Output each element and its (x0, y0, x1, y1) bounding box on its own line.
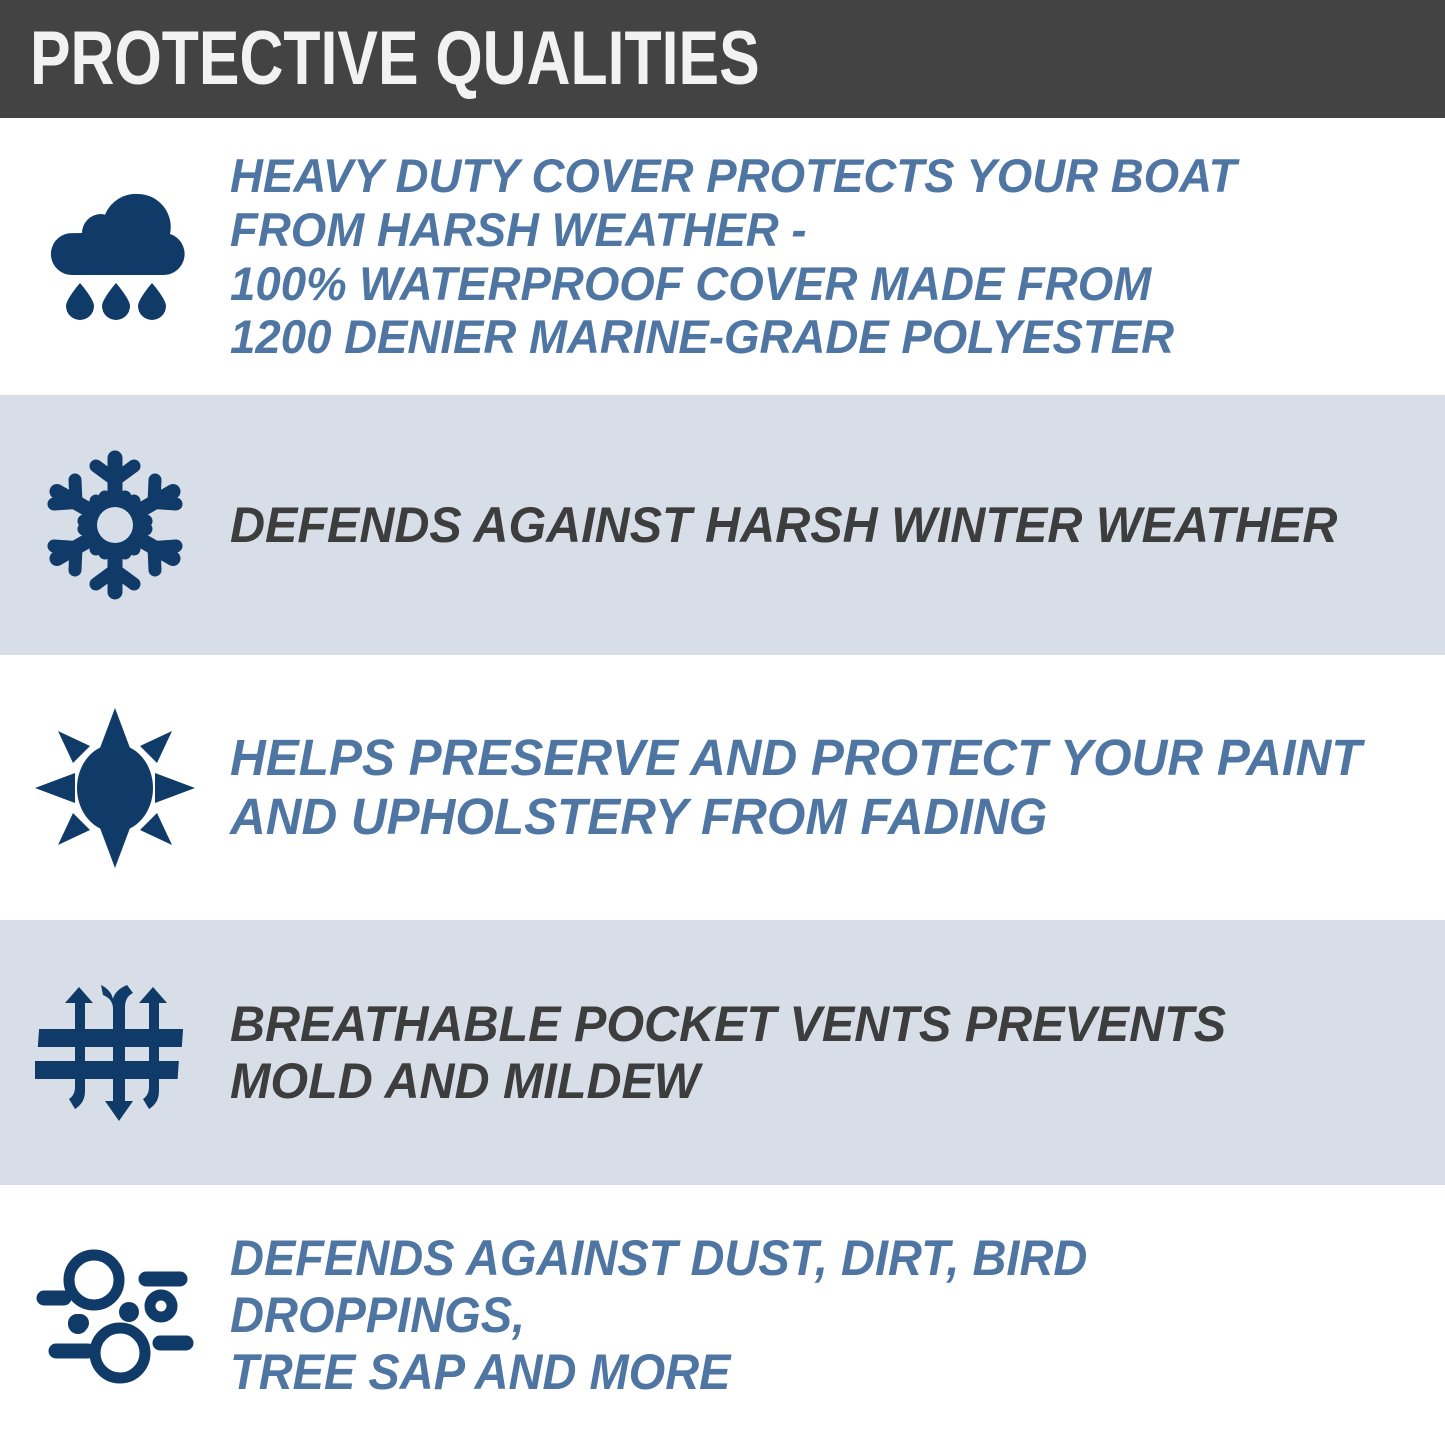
rain-cloud-icon (35, 177, 195, 337)
page-title: PROTECTIVE QUALITIES (30, 21, 760, 97)
icon-cell (0, 1185, 230, 1445)
text-cell: HELPS PRESERVE AND PROTECT YOUR PAINT AN… (230, 729, 1445, 845)
feature-row: HEAVY DUTY COVER PROTECTS YOUR BOAT FROM… (0, 118, 1445, 395)
header-bar: PROTECTIVE QUALITIES (0, 0, 1445, 118)
text-cell: DEFENDS AGAINST DUST, DIRT, BIRD DROPPIN… (230, 1230, 1445, 1401)
feature-row: BREATHABLE POCKET VENTS PREVENTS MOLD AN… (0, 920, 1445, 1185)
sun-icon (30, 703, 200, 873)
feature-text: HELPS PRESERVE AND PROTECT YOUR PAINT AN… (230, 729, 1399, 845)
text-cell: BREATHABLE POCKET VENTS PREVENTS MOLD AN… (230, 996, 1445, 1110)
icon-cell (0, 655, 230, 920)
icon-cell (0, 395, 230, 655)
feature-row: DEFENDS AGAINST DUST, DIRT, BIRD DROPPIN… (0, 1185, 1445, 1445)
air-vent-arrows-icon (35, 973, 195, 1133)
feature-text: DEFENDS AGAINST DUST, DIRT, BIRD DROPPIN… (230, 1230, 1363, 1401)
icon-cell (0, 920, 230, 1185)
text-cell: HEAVY DUTY COVER PROTECTS YOUR BOAT FROM… (230, 149, 1445, 363)
feature-row: HELPS PRESERVE AND PROTECT YOUR PAINT AN… (0, 655, 1445, 920)
feature-text: BREATHABLE POCKET VENTS PREVENTS MOLD AN… (230, 996, 1399, 1110)
feature-text: HEAVY DUTY COVER PROTECTS YOUR BOAT FROM… (230, 149, 1399, 363)
dust-particles-icon (30, 1240, 200, 1390)
text-cell: DEFENDS AGAINST HARSH WINTER WEATHER (230, 497, 1445, 554)
icon-cell (0, 118, 230, 395)
snowflake-icon (30, 440, 200, 610)
feature-row: DEFENDS AGAINST HARSH WINTER WEATHER (0, 395, 1445, 655)
protective-qualities-infographic: PROTECTIVE QUALITIES HEAVY DUTY COVER (0, 0, 1445, 1445)
feature-text: DEFENDS AGAINST HARSH WINTER WEATHER (230, 497, 1399, 554)
